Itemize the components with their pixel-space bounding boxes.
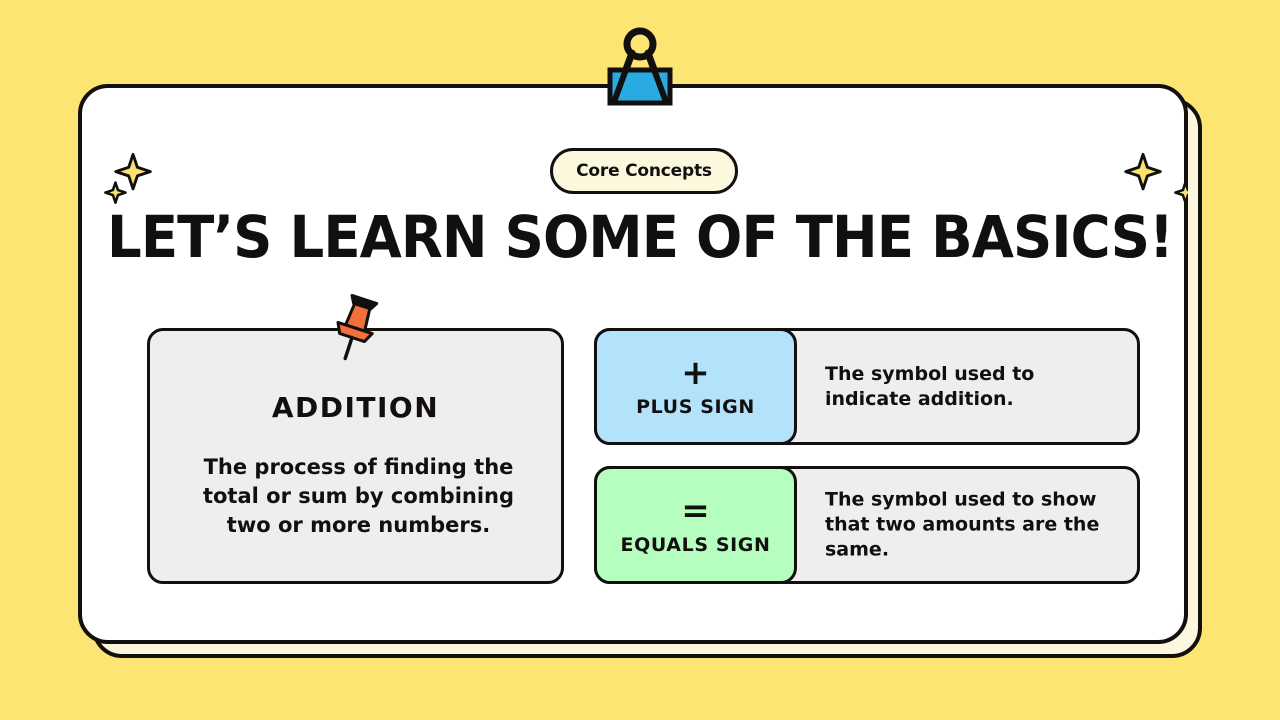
sparkle-icon [1124, 152, 1188, 216]
equals-sign-description: The symbol used to show that two amounts… [825, 488, 1119, 563]
addition-description: The process of finding the total or sum … [184, 453, 533, 540]
binder-clip-icon [598, 26, 682, 106]
plus-sign-description: The symbol used to indicate addition. [825, 362, 1119, 412]
addition-definition-card: ADDITION The process of finding the tota… [147, 328, 564, 584]
card-front-sheet: Core Concepts LET’S LEARN SOME OF THE BA… [78, 84, 1188, 644]
equals-sign-symbol: = [681, 494, 710, 528]
plus-sign-row: + PLUS SIGN The symbol used to indicate … [594, 328, 1140, 445]
push-pin-decoration [326, 292, 386, 362]
plus-sign-label: PLUS SIGN [636, 396, 755, 418]
equals-sign-row: = EQUALS SIGN The symbol used to show th… [594, 466, 1140, 584]
slide-canvas: Core Concepts LET’S LEARN SOME OF THE BA… [0, 0, 1280, 720]
plus-sign-symbol: + [681, 356, 710, 390]
core-concepts-badge: Core Concepts [550, 148, 738, 194]
sparkle-left-decoration [104, 152, 168, 220]
equals-sign-label: EQUALS SIGN [621, 534, 771, 556]
sparkle-right-decoration [1124, 152, 1188, 220]
plus-sign-tile: + PLUS SIGN [594, 328, 797, 445]
addition-term-label: ADDITION [150, 391, 561, 424]
page-title: LET’S LEARN SOME OF THE BASICS! [38, 206, 1241, 268]
binder-clip-decoration [598, 26, 682, 106]
sparkle-icon [104, 152, 168, 216]
push-pin-icon [326, 292, 386, 362]
equals-sign-tile: = EQUALS SIGN [594, 466, 797, 584]
core-concepts-badge-label: Core Concepts [576, 161, 712, 181]
